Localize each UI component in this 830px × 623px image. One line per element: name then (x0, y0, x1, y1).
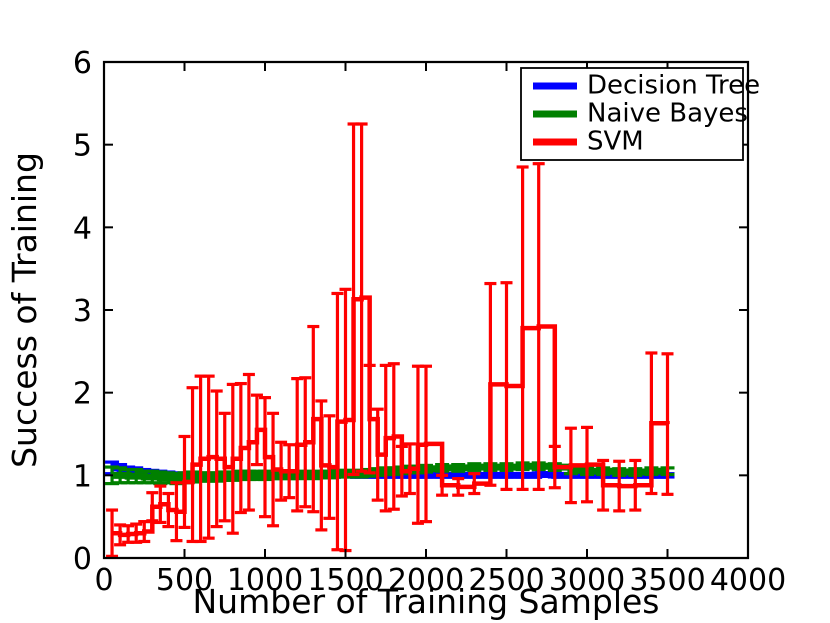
y-tick-label: 6 (73, 46, 92, 81)
y-tick-label: 2 (73, 377, 92, 412)
chart-figure: 050010001500200025003000350040000123456 … (0, 0, 830, 623)
series-path-2 (112, 298, 667, 535)
y-tick-label: 3 (73, 294, 92, 329)
y-tick-label: 0 (73, 542, 92, 577)
plot-area (105, 124, 674, 556)
legend-label-2: SVM (587, 127, 644, 157)
y-tick-label: 1 (73, 459, 92, 494)
y-tick-label: 4 (73, 211, 92, 246)
y-axis-label: Success of Training (5, 152, 44, 468)
x-tick-label: 0 (94, 563, 113, 598)
y-tick-label: 5 (73, 129, 92, 164)
chart-legend: Decision TreeNaive BayesSVM (521, 68, 760, 160)
x-tick-label: 4000 (710, 563, 786, 598)
legend-label-0: Decision Tree (587, 71, 760, 101)
x-axis-label: Number of Training Samples (193, 582, 660, 621)
series-svm (106, 124, 673, 556)
legend-label-1: Naive Bayes (587, 99, 748, 129)
plot-canvas: 050010001500200025003000350040000123456 … (0, 0, 830, 623)
error-bars-2 (106, 124, 673, 556)
